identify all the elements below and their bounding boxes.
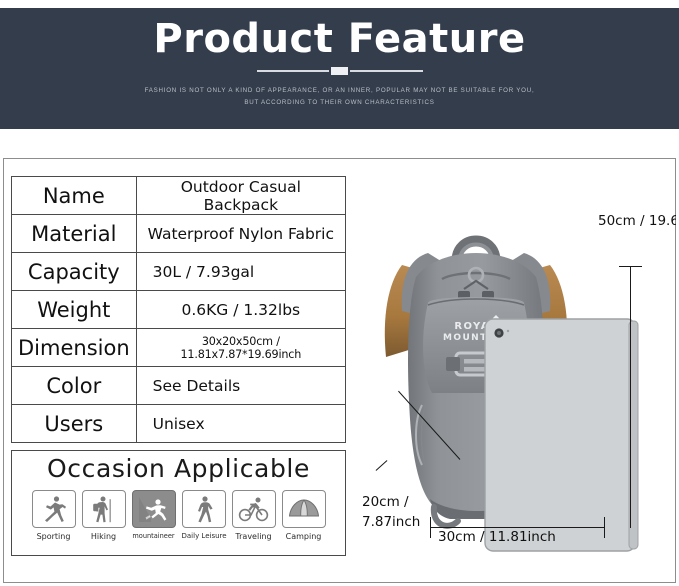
occasion-label-camping: Camping (282, 532, 326, 541)
tent-icon-box (282, 490, 326, 528)
banner-subtitle: FASHION IS NOT ONLY A KIND OF APPEARANCE… (145, 85, 535, 109)
table-row: Weight 0.6KG / 1.32lbs (12, 291, 346, 329)
table-row: Dimension 30x20x50cm / 11.81x7.87*19.69i… (12, 329, 346, 367)
spec-key-color: Color (12, 367, 137, 405)
cycling-icon-box (232, 490, 276, 528)
table-row: Material Waterproof Nylon Fabric (12, 215, 346, 253)
occasion-applicable-section: Occasion Applicable (11, 450, 346, 556)
walking-icon-box (182, 490, 226, 528)
climbing-icon (139, 495, 169, 523)
occasion-title: Occasion Applicable (12, 454, 345, 483)
spec-value-name: Outdoor Casual Backpack (136, 177, 345, 215)
occasion-icon-row: Sporting (12, 490, 345, 541)
occasion-label-mountaineer: mountaineer (132, 532, 176, 540)
occasion-label-daily-leisure: Daily Leisure (182, 532, 226, 540)
spec-key-dimension: Dimension (12, 329, 137, 367)
depth-dimension-line-2: 7.87inch (362, 512, 420, 532)
spec-value-weight: 0.6KG / 1.32lbs (136, 291, 345, 329)
table-row: Color See Details (12, 367, 346, 405)
occasion-label-sporting: Sporting (32, 532, 76, 541)
cycling-icon (238, 495, 270, 523)
occasion-label-hiking: Hiking (82, 532, 126, 541)
banner-subtitle-line-1: FASHION IS NOT ONLY A KIND OF APPEARANCE… (145, 85, 535, 97)
spec-value-dimension: 30x20x50cm / 11.81x7.87*19.69inch (136, 329, 345, 367)
climbing-icon-box (132, 490, 176, 528)
hiking-icon (91, 495, 117, 523)
spec-key-users: Users (12, 405, 137, 443)
occasion-item-mountaineer: mountaineer (132, 490, 176, 541)
spec-key-name: Name (12, 177, 137, 215)
occasion-item-traveling: Traveling (232, 490, 276, 541)
occasion-label-traveling: Traveling (232, 532, 276, 541)
width-dimension-cap-right (604, 517, 605, 538)
running-icon-box (32, 490, 76, 528)
divider-line-left (257, 70, 330, 72)
tent-icon (288, 497, 320, 521)
occasion-item-hiking: Hiking (82, 490, 126, 541)
spec-value-users: Unisex (136, 405, 345, 443)
walking-icon (191, 495, 217, 523)
hiking-icon-box (82, 490, 126, 528)
table-row: Capacity 30L / 7.93gal (12, 253, 346, 291)
spec-key-weight: Weight (12, 291, 137, 329)
table-row: Users Unisex (12, 405, 346, 443)
header-banner: Product Feature FASHION IS NOT ONLY A KI… (0, 8, 679, 129)
running-icon (41, 495, 67, 523)
depth-dimension-line-1: 20cm / (362, 492, 420, 512)
occasion-item-daily-leisure: Daily Leisure (182, 490, 226, 541)
divider-line-right (350, 70, 423, 72)
spec-key-capacity: Capacity (12, 253, 137, 291)
title-divider (257, 66, 423, 76)
spec-value-material: Waterproof Nylon Fabric (136, 215, 345, 253)
spec-value-color: See Details (136, 367, 345, 405)
specification-table: Name Outdoor Casual Backpack Material Wa… (11, 176, 346, 443)
occasion-item-sporting: Sporting (32, 490, 76, 541)
height-dimension-line (630, 266, 631, 528)
occasion-item-camping: Camping (282, 490, 326, 541)
page-title: Product Feature (153, 18, 525, 60)
divider-center-box (331, 67, 348, 75)
depth-dimension-label: 20cm / 7.87inch (362, 492, 420, 533)
spec-value-capacity: 30L / 7.93gal (136, 253, 345, 291)
content-frame: Name Outdoor Casual Backpack Material Wa… (3, 158, 676, 583)
product-photo-area: ROYAL MOUNTAIN (354, 159, 676, 582)
height-dimension-label: 50cm / 19.69inch (598, 211, 676, 231)
product-feature-infographic: Product Feature FASHION IS NOT ONLY A KI… (0, 0, 679, 586)
table-row: Name Outdoor Casual Backpack (12, 177, 346, 215)
width-dimension-label: 30cm / 11.81inch (438, 527, 556, 547)
left-column: Name Outdoor Casual Backpack Material Wa… (11, 176, 346, 556)
spec-key-material: Material (12, 215, 137, 253)
banner-subtitle-line-2: BUT ACCORDING TO THEIR OWN CHARACTERISTI… (145, 97, 535, 109)
